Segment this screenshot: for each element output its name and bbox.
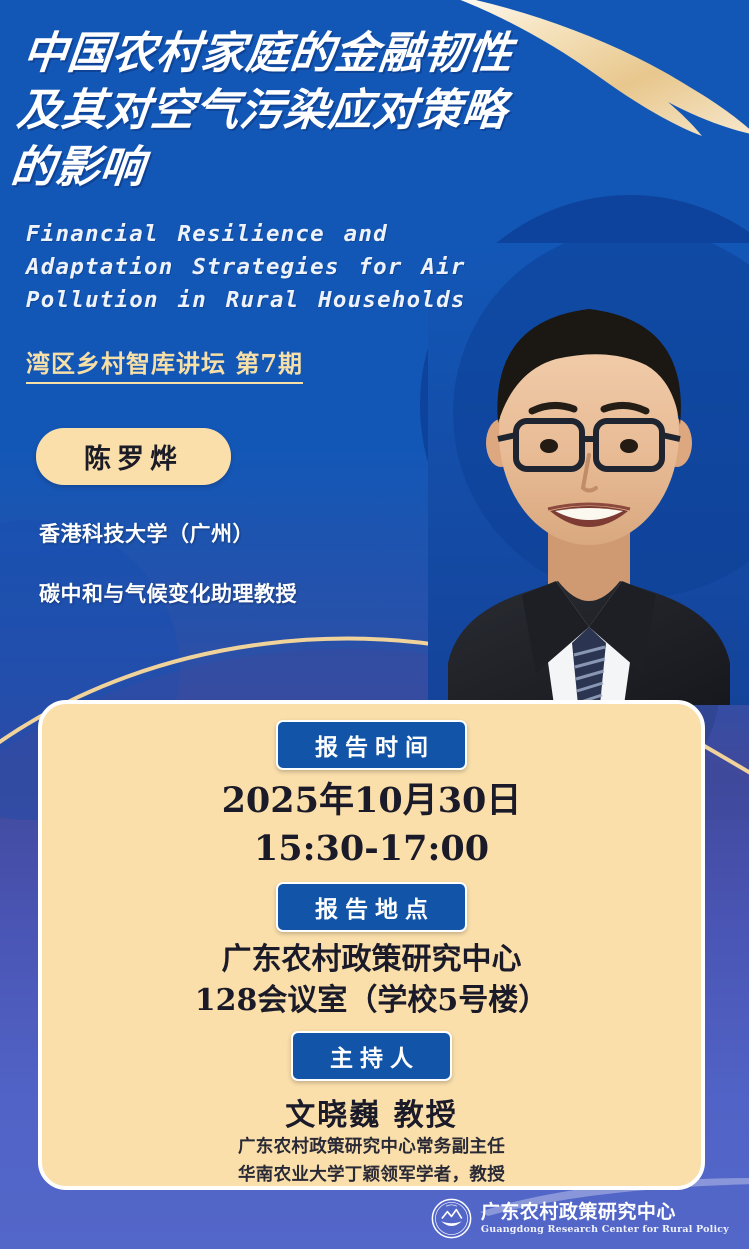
section-label-host: 主持人 <box>291 1031 452 1081</box>
title-en-line-1: Financial Resilience and <box>26 218 626 251</box>
title-cn-line-2: 及其对空气污染应对策略 <box>14 83 620 140</box>
title-cn-line-1: 中国农村家庭的金融韧性 <box>20 26 626 83</box>
poster-title-english: Financial Resilience and Adaptation Stra… <box>26 218 626 316</box>
event-time-range: 15:30-17:00 <box>42 826 701 872</box>
event-date: 2025年10月30日 <box>42 778 701 824</box>
footer-org-name-cn: 广东农村政策研究中心 <box>481 1202 729 1223</box>
footer-branding: 广东农村政策研究中心 Guangdong Research Center for… <box>431 1198 729 1239</box>
event-info-card: 报告时间 2025年10月30日 15:30-17:00 报告地点 广东农村政策… <box>38 700 705 1190</box>
title-en-line-3: Pollution in Rural Households <box>26 284 626 317</box>
lecture-series-label: 湾区乡村智库讲坛 第7期 <box>26 344 303 384</box>
poster-title-chinese: 中国农村家庭的金融韧性 及其对空气污染应对策略 的影响 <box>8 26 626 196</box>
title-cn-line-3: 的影响 <box>8 140 614 197</box>
speaker-block: 陈罗烨 香港科技大学（广州） 碳中和与气候变化助理教授 <box>36 428 456 608</box>
poster-canvas: 中国农村家庭的金融韧性 及其对空气污染应对策略 的影响 Financial Re… <box>0 0 749 1249</box>
footer-org-name-en: Guangdong Research Center for Rural Poli… <box>481 1224 729 1235</box>
event-venue-line-1: 广东农村政策研究中心 <box>42 940 701 981</box>
spacer-venue-host <box>42 1021 701 1031</box>
spacer-time-venue <box>42 872 701 882</box>
host-title-1: 广东农村政策研究中心常务副主任 <box>42 1134 701 1161</box>
speaker-organization: 香港科技大学（广州） <box>39 518 456 548</box>
host-name: 文晓巍 教授 <box>42 1090 701 1134</box>
section-label-venue: 报告地点 <box>276 882 467 932</box>
poster-header: 中国农村家庭的金融韧性 及其对空气污染应对策略 的影响 Financial Re… <box>26 26 626 384</box>
footer-text-group: 广东农村政策研究中心 Guangdong Research Center for… <box>481 1202 729 1236</box>
title-en-line-2: Adaptation Strategies for Air <box>26 251 626 284</box>
event-venue-line-2: 128会议室（学校5号楼） <box>42 981 701 1022</box>
section-label-time: 报告时间 <box>276 720 467 770</box>
speaker-role: 碳中和与气候变化助理教授 <box>39 578 456 608</box>
organization-seal-icon <box>431 1198 472 1239</box>
speaker-name-badge: 陈罗烨 <box>36 428 231 485</box>
host-title-2: 华南农业大学丁颖领军学者，教授 <box>42 1162 701 1189</box>
